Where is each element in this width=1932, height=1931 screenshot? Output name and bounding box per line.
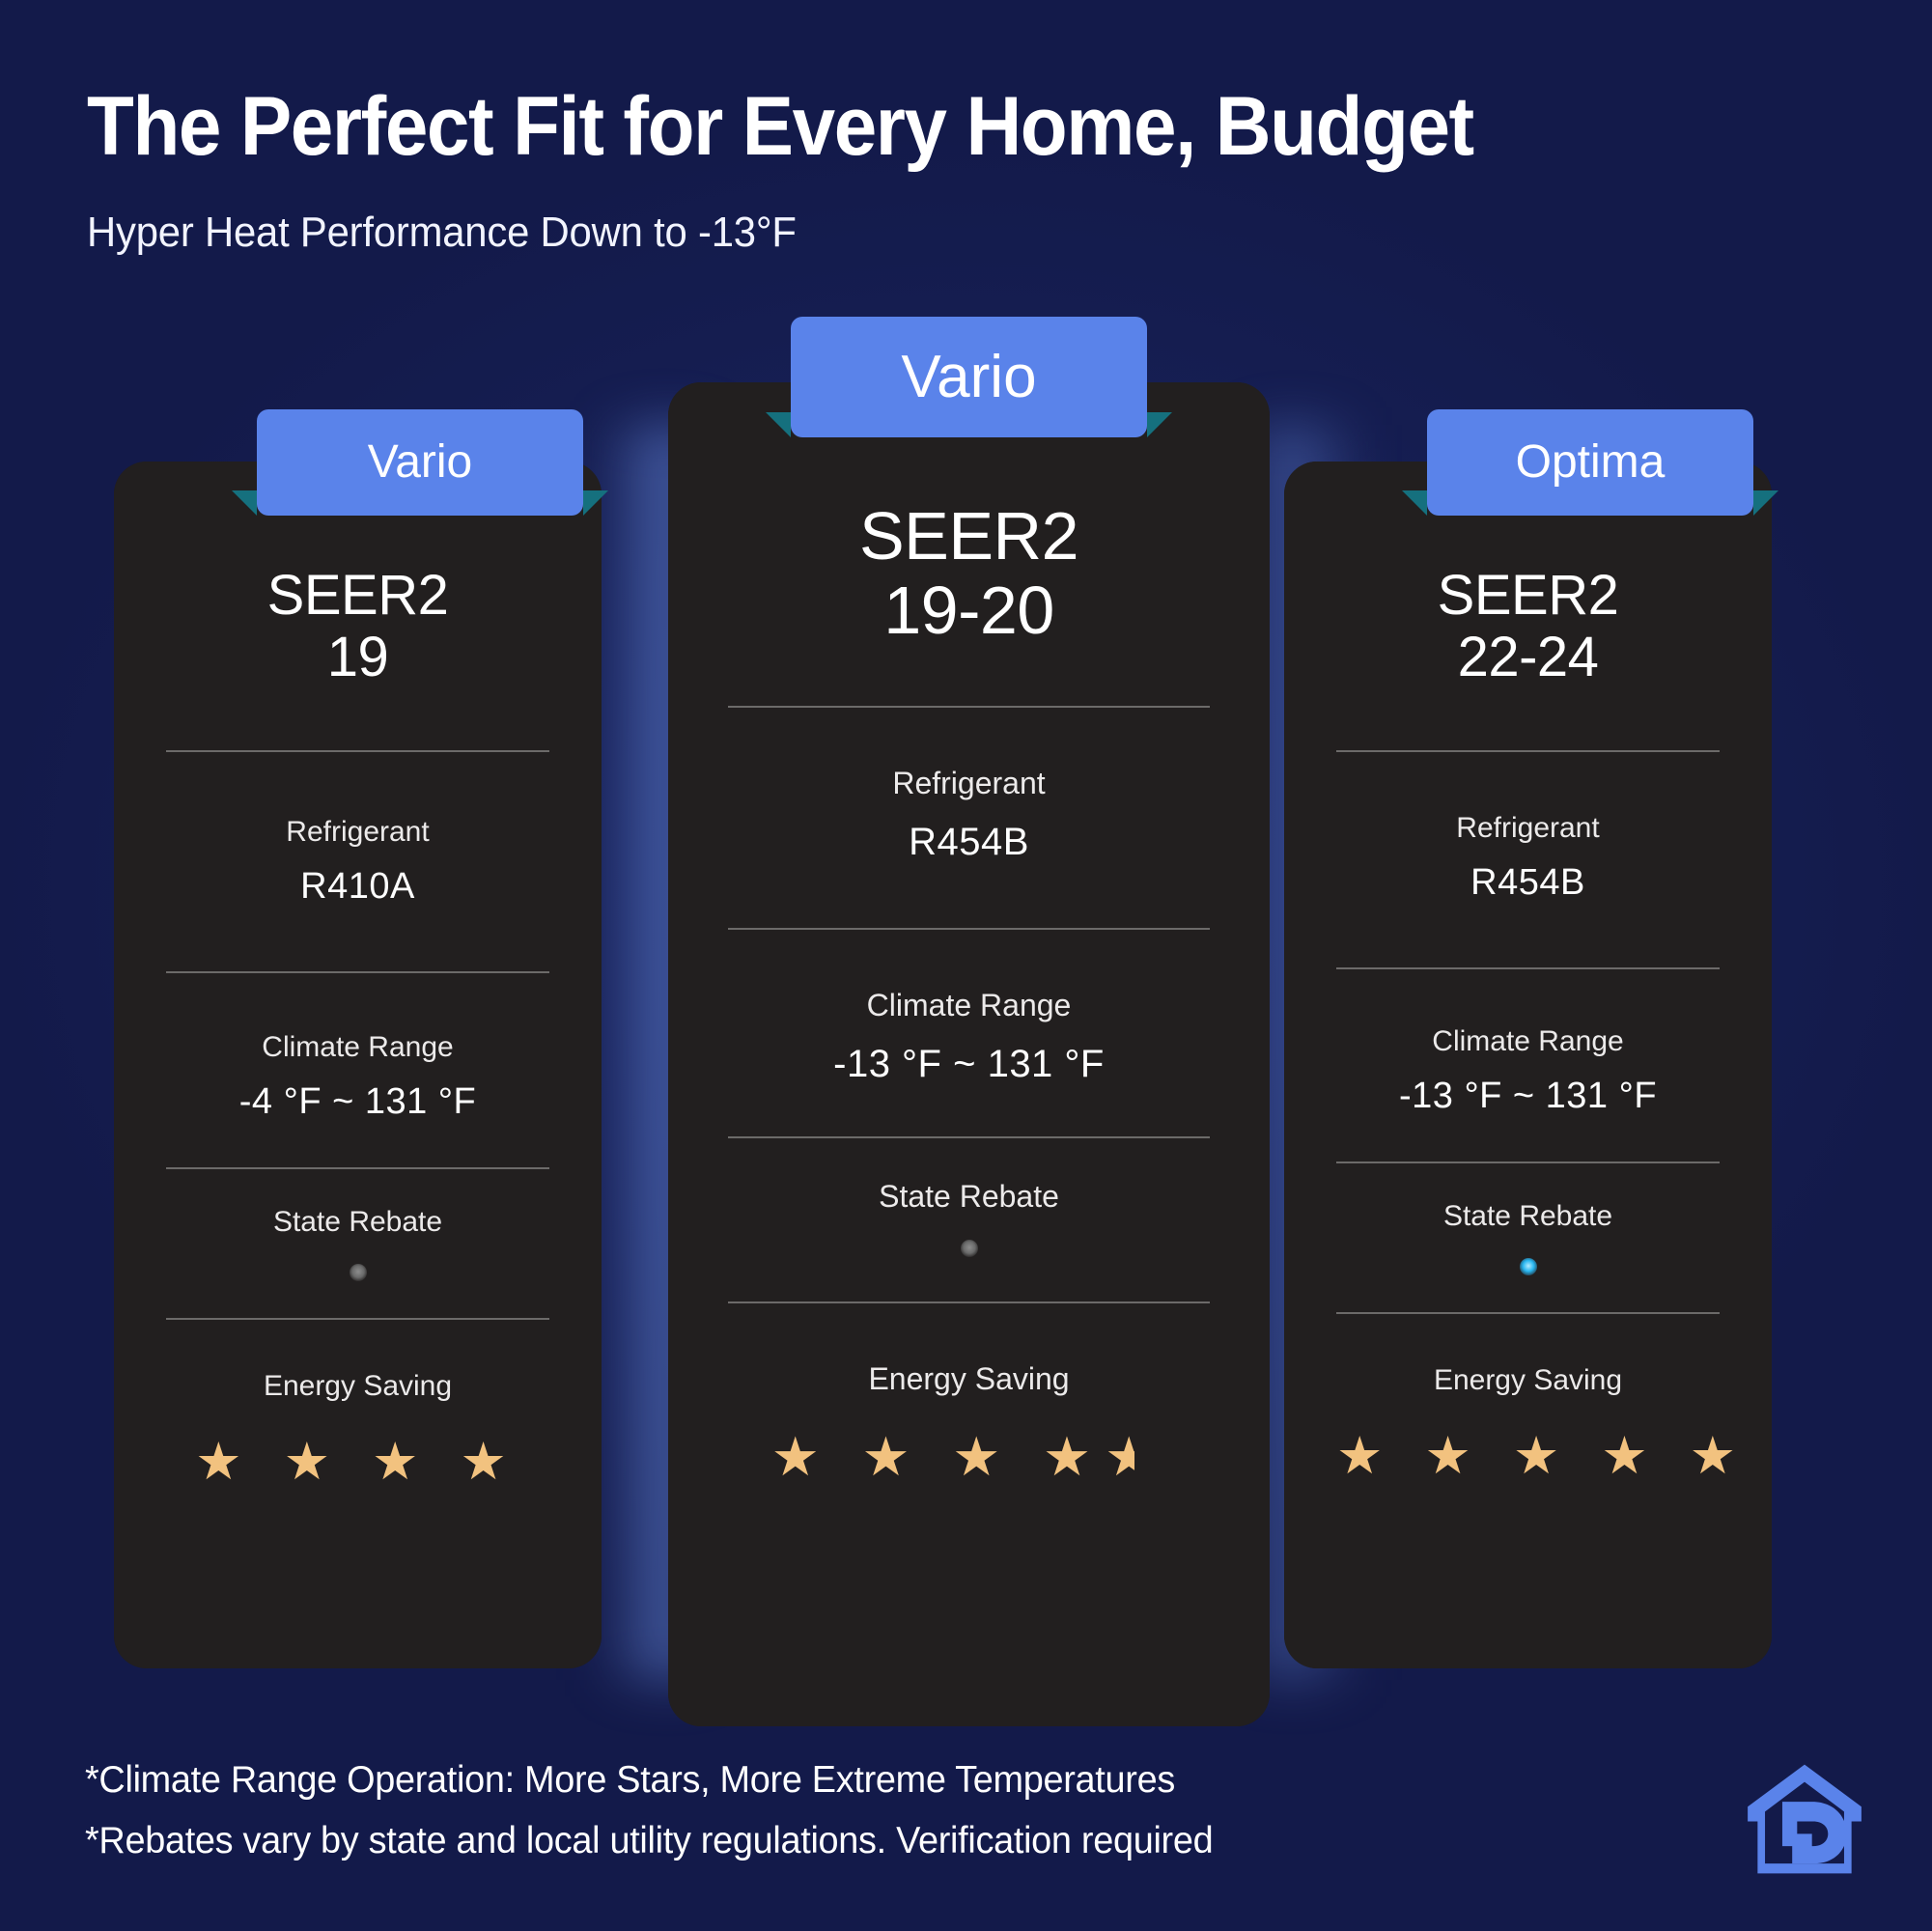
rebate-indicator-dot-icon — [350, 1264, 367, 1281]
rebate-indicator-dot-icon — [1520, 1258, 1537, 1275]
seer-value: 19-20 — [728, 572, 1210, 650]
card-surface: SEER2 19-20 Refrigerant R454B Climate Ra… — [668, 382, 1270, 1726]
spec-energy-saving: Energy Saving ★ ★ ★ ★ — [166, 1370, 549, 1488]
divider — [728, 706, 1210, 708]
spec-refrigerant: Refrigerant R410A — [166, 816, 549, 908]
divider — [166, 971, 549, 973]
energy-rating-full-stars: ★ ★ ★ ★ — [771, 1426, 1106, 1487]
spec-label: Refrigerant — [728, 766, 1210, 801]
card-content: SEER2 19-20 Refrigerant R454B Climate Ra… — [668, 382, 1270, 1484]
spec-value: -4 °F ~ 131 °F — [166, 1081, 549, 1123]
badge-label: Vario — [901, 344, 1036, 410]
spec-label: Refrigerant — [1336, 812, 1720, 845]
spec-label: Energy Saving — [728, 1361, 1210, 1397]
spec-value: R454B — [1336, 862, 1720, 904]
card-badge-optima[interactable]: Optima — [1427, 409, 1753, 516]
seer-label: SEER2 — [1336, 566, 1720, 625]
card-content: SEER2 19 Refrigerant R410A Climate Range… — [114, 462, 602, 1488]
badge-fold-right-icon — [1147, 412, 1172, 437]
seer-label: SEER2 — [166, 566, 549, 625]
spec-label: State Rebate — [1336, 1200, 1720, 1233]
spec-label: Refrigerant — [166, 816, 549, 849]
spec-climate-range: Climate Range -13 °F ~ 131 °F — [728, 988, 1210, 1086]
card-content: SEER2 22-24 Refrigerant R454B Climate Ra… — [1284, 462, 1772, 1482]
seer-label: SEER2 — [728, 500, 1210, 572]
divider — [1336, 1161, 1720, 1163]
infographic-stage: The Perfect Fit for Every Home, Budget H… — [0, 0, 1932, 1931]
spec-label: State Rebate — [728, 1179, 1210, 1215]
footnote-climate-range: *Climate Range Operation: More Stars, Mo… — [85, 1749, 1213, 1810]
spec-energy-saving: Energy Saving ★ ★ ★ ★ ★ — [1336, 1364, 1720, 1482]
card-surface: SEER2 19 Refrigerant R410A Climate Range… — [114, 462, 602, 1668]
badge-fold-left-icon — [766, 412, 791, 437]
footnotes: *Climate Range Operation: More Stars, Mo… — [85, 1749, 1248, 1871]
card-surface: SEER2 22-24 Refrigerant R454B Climate Ra… — [1284, 462, 1772, 1668]
divider — [728, 928, 1210, 930]
spec-label: Climate Range — [1336, 1025, 1720, 1058]
card-badge-vario-featured[interactable]: Vario — [791, 317, 1147, 437]
seer-value: 22-24 — [1336, 625, 1720, 689]
comparison-cards: SEER2 19 Refrigerant R410A Climate Range… — [0, 0, 1932, 1931]
spec-state-rebate: State Rebate — [728, 1179, 1210, 1257]
spec-label: Energy Saving — [166, 1370, 549, 1403]
divider — [166, 750, 549, 752]
spec-label: Energy Saving — [1336, 1364, 1720, 1397]
spec-climate-range: Climate Range -13 °F ~ 131 °F — [1336, 1025, 1720, 1117]
badge-fold-left-icon — [1402, 490, 1427, 516]
divider — [728, 1301, 1210, 1303]
energy-rating-stars-icon: ★ ★ ★ ★ ★ — [1336, 1430, 1720, 1482]
spec-label: Climate Range — [166, 1031, 549, 1064]
divider — [728, 1136, 1210, 1138]
product-card-vario-basic[interactable]: SEER2 19 Refrigerant R410A Climate Range… — [114, 462, 602, 1668]
spec-value: R454B — [728, 821, 1210, 864]
badge-fold-left-icon — [232, 490, 257, 516]
badge-fold-right-icon — [583, 490, 608, 516]
badge-fold-right-icon — [1753, 490, 1778, 516]
divider — [1336, 1312, 1720, 1314]
divider — [166, 1318, 549, 1320]
card-badge-vario-basic[interactable]: Vario — [257, 409, 583, 516]
spec-value: -13 °F ~ 131 °F — [1336, 1076, 1720, 1117]
spec-value: -13 °F ~ 131 °F — [728, 1043, 1210, 1086]
seer-value: 19 — [166, 625, 549, 689]
product-card-optima[interactable]: SEER2 22-24 Refrigerant R454B Climate Ra… — [1284, 462, 1772, 1668]
house-logo-icon — [1743, 1757, 1866, 1881]
rebate-indicator-dot-icon — [961, 1240, 978, 1257]
energy-rating-stars-icon: ★ ★ ★ ★★ — [728, 1430, 1210, 1484]
spec-state-rebate: State Rebate — [166, 1206, 549, 1281]
spec-label: Climate Range — [728, 988, 1210, 1023]
divider — [166, 1167, 549, 1169]
badge-label: Optima — [1516, 436, 1666, 488]
footnote-rebates: *Rebates vary by state and local utility… — [85, 1810, 1213, 1871]
spec-state-rebate: State Rebate — [1336, 1200, 1720, 1275]
spec-refrigerant: Refrigerant R454B — [728, 766, 1210, 864]
spec-refrigerant: Refrigerant R454B — [1336, 812, 1720, 904]
energy-rating-stars-icon: ★ ★ ★ ★ — [166, 1436, 549, 1488]
product-card-vario-featured[interactable]: SEER2 19-20 Refrigerant R454B Climate Ra… — [668, 382, 1270, 1726]
spec-label: State Rebate — [166, 1206, 549, 1239]
spec-energy-saving: Energy Saving ★ ★ ★ ★★ — [728, 1361, 1210, 1484]
spec-climate-range: Climate Range -4 °F ~ 131 °F — [166, 1031, 549, 1123]
badge-label: Vario — [368, 436, 473, 488]
spec-value: R410A — [166, 866, 549, 908]
energy-rating-half-star-icon: ★ — [1105, 1430, 1166, 1484]
divider — [1336, 967, 1720, 969]
divider — [1336, 750, 1720, 752]
